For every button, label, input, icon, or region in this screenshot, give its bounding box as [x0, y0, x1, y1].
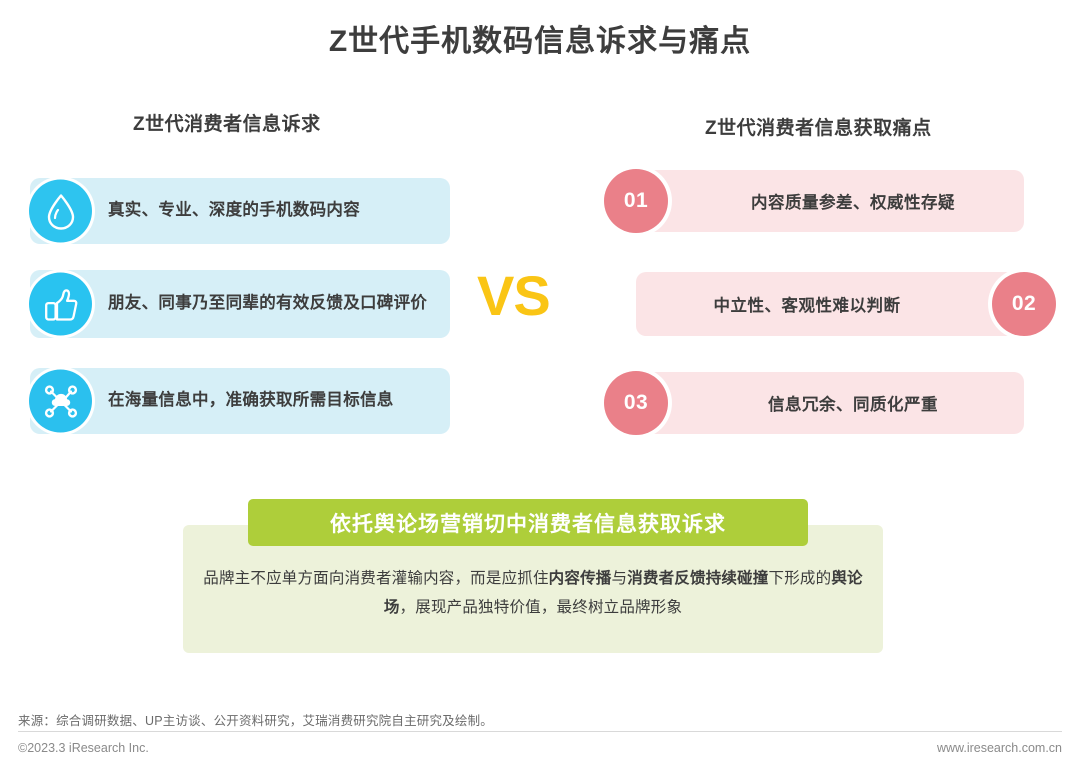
conclusion-text-bold-2: 消费者: [627, 570, 674, 587]
conclusion-body: 品牌主不应单方面向消费者灌输内容，而是应抓住内容传播与消费者反馈持续碰撞下形成的…: [203, 565, 863, 622]
thumbs-up-icon: [29, 273, 92, 336]
footer-copyright: ©2023.3 iResearch Inc.: [18, 741, 149, 755]
footer-divider: [18, 731, 1062, 732]
conclusion-text-bold-1: 内容传播: [549, 570, 612, 587]
painpoint-card-label: 内容质量参差、权威性存疑: [705, 189, 955, 213]
painpoint-card[interactable]: 中立性、客观性难以判断 02: [636, 272, 1024, 336]
conclusion-banner: 依托舆论场营销切中消费者信息获取诉求: [248, 499, 808, 546]
conclusion-text-3: 下形成的: [769, 570, 832, 587]
painpoint-card-label: 中立性、客观性难以判断: [714, 292, 947, 316]
page-title: Z世代手机数码信息诉求与痛点: [0, 16, 1080, 60]
right-column-heading: Z世代消费者信息获取痛点: [705, 113, 932, 140]
footer-url: www.iresearch.com.cn: [937, 741, 1062, 755]
conclusion-text-4: ，展现产品独特价值，最终树立品牌形象: [400, 599, 683, 616]
footer-source: 来源：综合调研数据、UP主访谈、公开资料研究，艾瑞消费研究院自主研究及绘制。: [18, 710, 493, 729]
demand-card-label: 朋友、同事乃至同辈的有效反馈及口碑评价: [108, 292, 427, 316]
painpoint-card[interactable]: 01 内容质量参差、权威性存疑: [636, 170, 1024, 232]
painpoint-card[interactable]: 03 信息冗余、同质化严重: [636, 372, 1024, 434]
water-drop-icon: [29, 180, 92, 243]
conclusion-text-2: 与: [611, 570, 627, 587]
network-nodes-icon: [29, 370, 92, 433]
left-column-heading: Z世代消费者信息诉求: [133, 109, 321, 136]
painpoint-number-badge: 03: [604, 371, 668, 435]
demand-card[interactable]: 在海量信息中，准确获取所需目标信息: [30, 368, 450, 434]
demand-card-label: 在海量信息中，准确获取所需目标信息: [108, 389, 394, 413]
demand-card[interactable]: 朋友、同事乃至同辈的有效反馈及口碑评价: [30, 270, 450, 338]
painpoint-number-badge: 02: [992, 272, 1056, 336]
demand-card[interactable]: 真实、专业、深度的手机数码内容: [30, 178, 450, 244]
painpoint-card-label: 信息冗余、同质化严重: [722, 391, 938, 415]
conclusion-text-1: 品牌主不应单方面向消费者灌输内容，而是应抓住: [203, 570, 548, 587]
vs-divider: VS: [477, 263, 550, 328]
conclusion-text-bold-3: 反馈持续碰撞: [674, 570, 768, 587]
demand-card-label: 真实、专业、深度的手机数码内容: [108, 199, 360, 223]
painpoint-number-badge: 01: [604, 169, 668, 233]
